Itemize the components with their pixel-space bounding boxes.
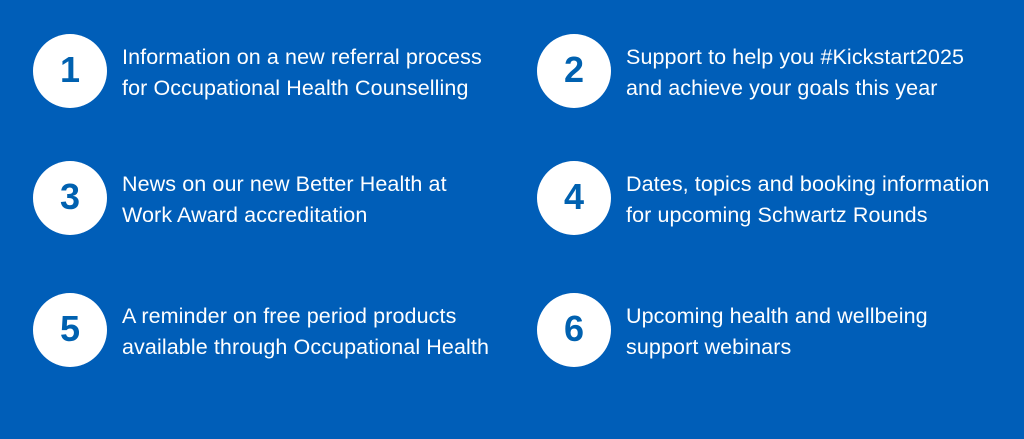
list-item-1[interactable]: 1 Information on a new referral process … xyxy=(0,0,512,150)
contents-poster: 1 Information on a new referral process … xyxy=(0,0,1024,439)
number-badge-6: 6 xyxy=(537,293,611,367)
list-item-4[interactable]: 4 Dates, topics and booking information … xyxy=(512,150,1024,281)
number-badge-5: 5 xyxy=(33,293,107,367)
list-item-text: Information on a new referral process fo… xyxy=(122,34,482,104)
bottom-spacer xyxy=(0,412,1024,439)
list-item-6[interactable]: 6 Upcoming health and wellbeing support … xyxy=(512,281,1024,412)
badge-number-label: 5 xyxy=(60,311,80,347)
list-item-3[interactable]: 3 News on our new Better Health at Work … xyxy=(0,150,512,281)
list-item-5[interactable]: 5 A reminder on free period products ava… xyxy=(0,281,512,412)
badge-number-label: 1 xyxy=(60,52,80,88)
number-badge-2: 2 xyxy=(537,34,611,108)
list-item-text: Dates, topics and booking information fo… xyxy=(626,161,989,231)
number-badge-4: 4 xyxy=(537,161,611,235)
list-item-text: News on our new Better Health at Work Aw… xyxy=(122,161,447,231)
list-item-text: Support to help you #Kickstart2025 and a… xyxy=(626,34,964,104)
list-item-text: Upcoming health and wellbeing support we… xyxy=(626,293,928,363)
contents-grid: 1 Information on a new referral process … xyxy=(0,0,1024,439)
list-item-text: A reminder on free period products avail… xyxy=(122,293,489,363)
badge-number-label: 3 xyxy=(60,179,80,215)
badge-number-label: 6 xyxy=(564,311,584,347)
number-badge-1: 1 xyxy=(33,34,107,108)
list-item-2[interactable]: 2 Support to help you #Kickstart2025 and… xyxy=(512,0,1024,150)
badge-number-label: 4 xyxy=(564,179,584,215)
number-badge-3: 3 xyxy=(33,161,107,235)
badge-number-label: 2 xyxy=(564,52,584,88)
